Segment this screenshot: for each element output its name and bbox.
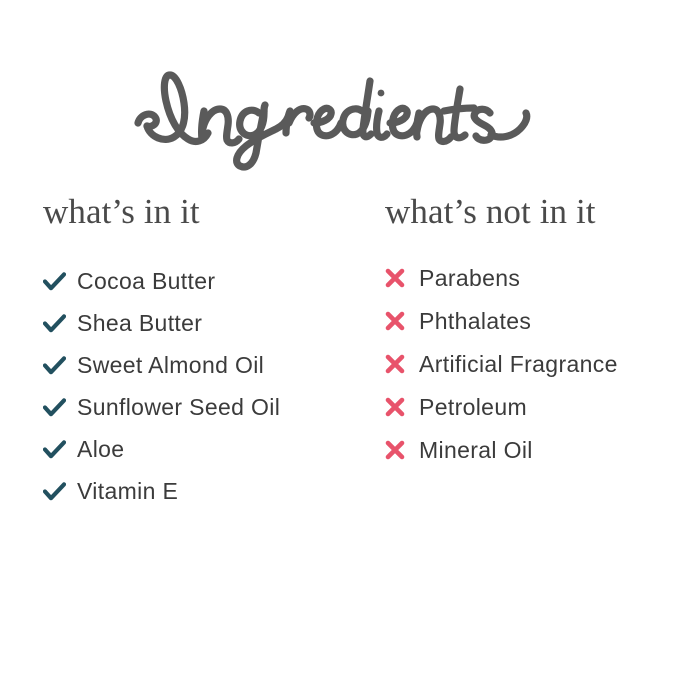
list-item-label: Sweet Almond Oil [77,352,264,378]
list-item: Mineral Oil [385,428,665,471]
list-item-label: Petroleum [419,394,527,420]
list-item: Aloe [43,428,363,470]
list-item-label: Artificial Fragrance [419,351,618,377]
ingredients-graphic: Ingredients what’s in it Cocoa Butter [0,0,679,679]
column-excluded: what’s not in it Parabens [385,192,665,471]
ingredient-columns: what’s in it Cocoa Butter [0,192,679,522]
list-item-label: Aloe [77,436,124,462]
list-item: Cocoa Butter [43,260,363,302]
list-item-label: Cocoa Butter [77,268,215,294]
list-item: Phthalates [385,299,665,342]
page-title: Ingredients [0,58,679,173]
cross-icon [385,352,415,376]
list-item: Artificial Fragrance [385,342,665,385]
list-item: Shea Butter [43,302,363,344]
list-item-label: Sunflower Seed Oil [77,394,280,420]
check-icon [43,353,73,377]
check-icon [43,269,73,293]
list-item-label: Shea Butter [77,310,202,336]
list-item-label: Mineral Oil [419,437,533,463]
included-list: Cocoa Butter Shea Butter [43,260,363,512]
cross-icon [385,266,415,290]
list-item: Sweet Almond Oil [43,344,363,386]
list-item: Vitamin E [43,470,363,512]
cross-icon [385,309,415,333]
check-icon [43,311,73,335]
list-item: Sunflower Seed Oil [43,386,363,428]
list-item-label: Phthalates [419,308,531,334]
list-item: Parabens [385,256,665,299]
list-item: Petroleum [385,385,665,428]
check-icon [43,437,73,461]
cross-icon [385,395,415,419]
excluded-list: Parabens Phthalates [385,256,665,471]
heading-whats-not-in-it: what’s not in it [385,192,665,232]
title-script-lettering: Ingredients [134,61,546,171]
cross-icon [385,438,415,462]
check-icon [43,395,73,419]
list-item-label: Parabens [419,265,520,291]
column-included: what’s in it Cocoa Butter [43,192,363,512]
check-icon [43,479,73,503]
heading-whats-in-it: what’s in it [43,192,363,232]
list-item-label: Vitamin E [77,478,178,504]
